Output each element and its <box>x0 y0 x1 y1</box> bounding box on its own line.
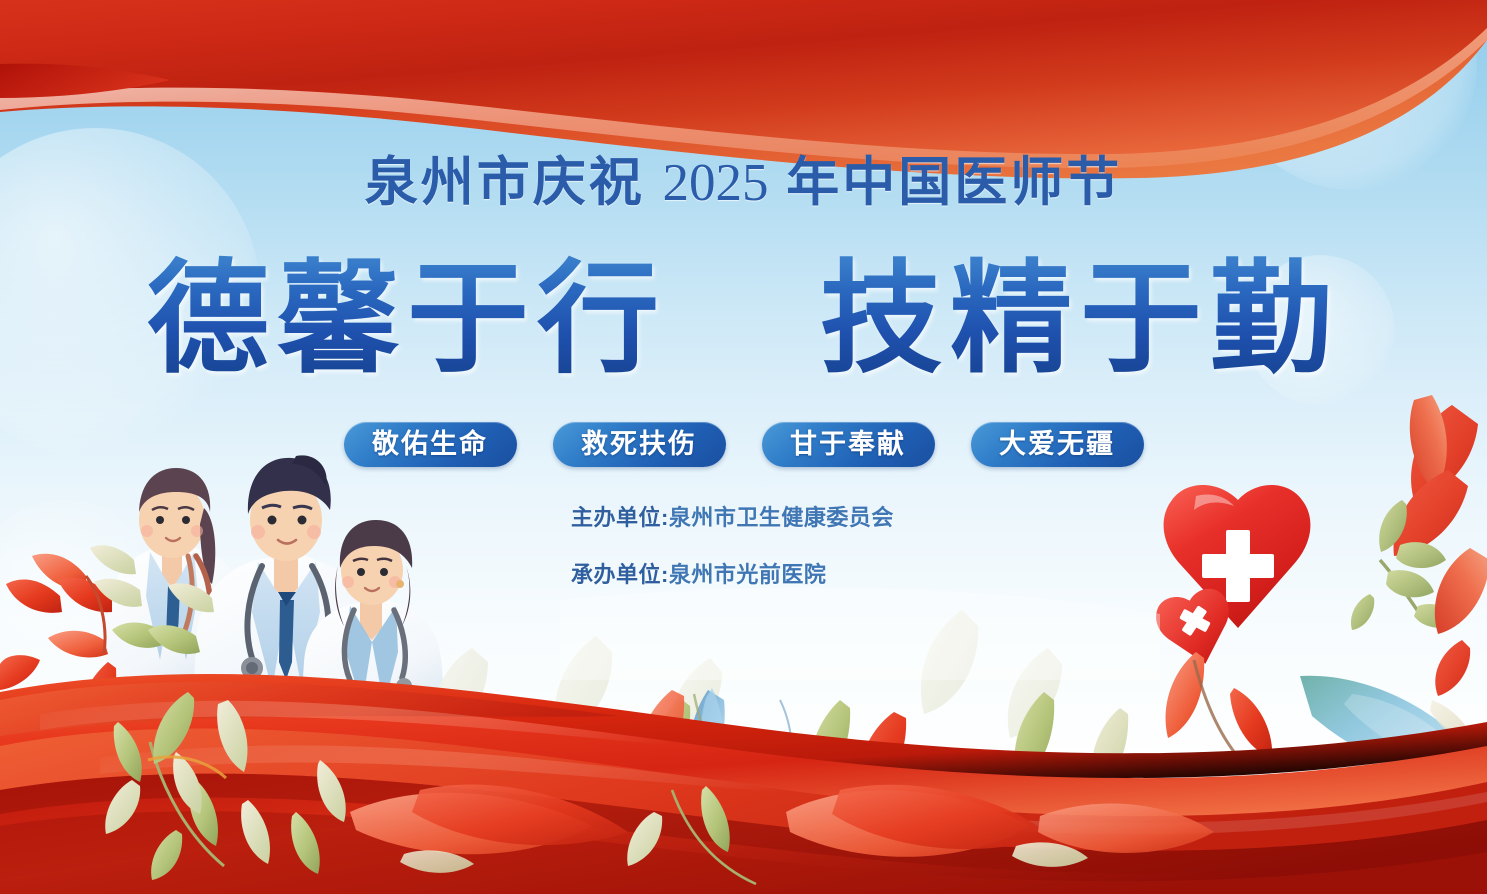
slogan-badge-2-label: 救死扶伤 <box>581 431 697 458</box>
kicker-year: 2025 <box>663 154 769 212</box>
organizer-organizer-role: 承办单位: <box>571 562 669 587</box>
organizer-block: 主办单位:泉州市卫生健康委员会 承办单位:泉州市光前医院 <box>571 503 894 617</box>
organizer-host-role: 主办单位: <box>571 505 669 530</box>
content-layer: 泉州市庆祝 2025 年中国医师节 德馨于行 技精于勤 敬佑生命 救死扶伤 甘于… <box>0 0 1487 894</box>
organizer-organizer-line: 承办单位:泉州市光前医院 <box>571 560 894 589</box>
slogan-badge-1[interactable]: 敬佑生命 <box>344 422 517 467</box>
slogan-badge-row: 敬佑生命 救死扶伤 甘于奉献 大爱无疆 <box>0 422 1487 467</box>
slogan-badge-4-label: 大爱无疆 <box>999 431 1115 458</box>
organizer-host-name: 泉州市卫生健康委员会 <box>669 505 894 530</box>
kicker-prefix: 泉州市庆祝 <box>365 153 645 212</box>
headline-left: 德馨于行 <box>147 246 667 390</box>
organizer-organizer-name: 泉州市光前医院 <box>669 562 827 587</box>
event-kicker-title: 泉州市庆祝 2025 年中国医师节 <box>0 153 1487 213</box>
headline-right: 技精于勤 <box>820 246 1340 390</box>
slogan-badge-3-label: 甘于奉献 <box>790 431 906 458</box>
slogan-badge-3[interactable]: 甘于奉献 <box>762 422 935 467</box>
poster-canvas: 泉州市庆祝 2025 年中国医师节 德馨于行 技精于勤 敬佑生命 救死扶伤 甘于… <box>0 0 1487 894</box>
organizer-host-line: 主办单位:泉州市卫生健康委员会 <box>571 503 894 532</box>
slogan-badge-2[interactable]: 救死扶伤 <box>553 422 726 467</box>
slogan-badge-1-label: 敬佑生命 <box>372 431 488 458</box>
main-headline: 德馨于行 技精于勤 <box>0 248 1487 388</box>
slogan-badge-4[interactable]: 大爱无疆 <box>971 422 1144 467</box>
kicker-suffix: 年中国医师节 <box>786 153 1122 212</box>
